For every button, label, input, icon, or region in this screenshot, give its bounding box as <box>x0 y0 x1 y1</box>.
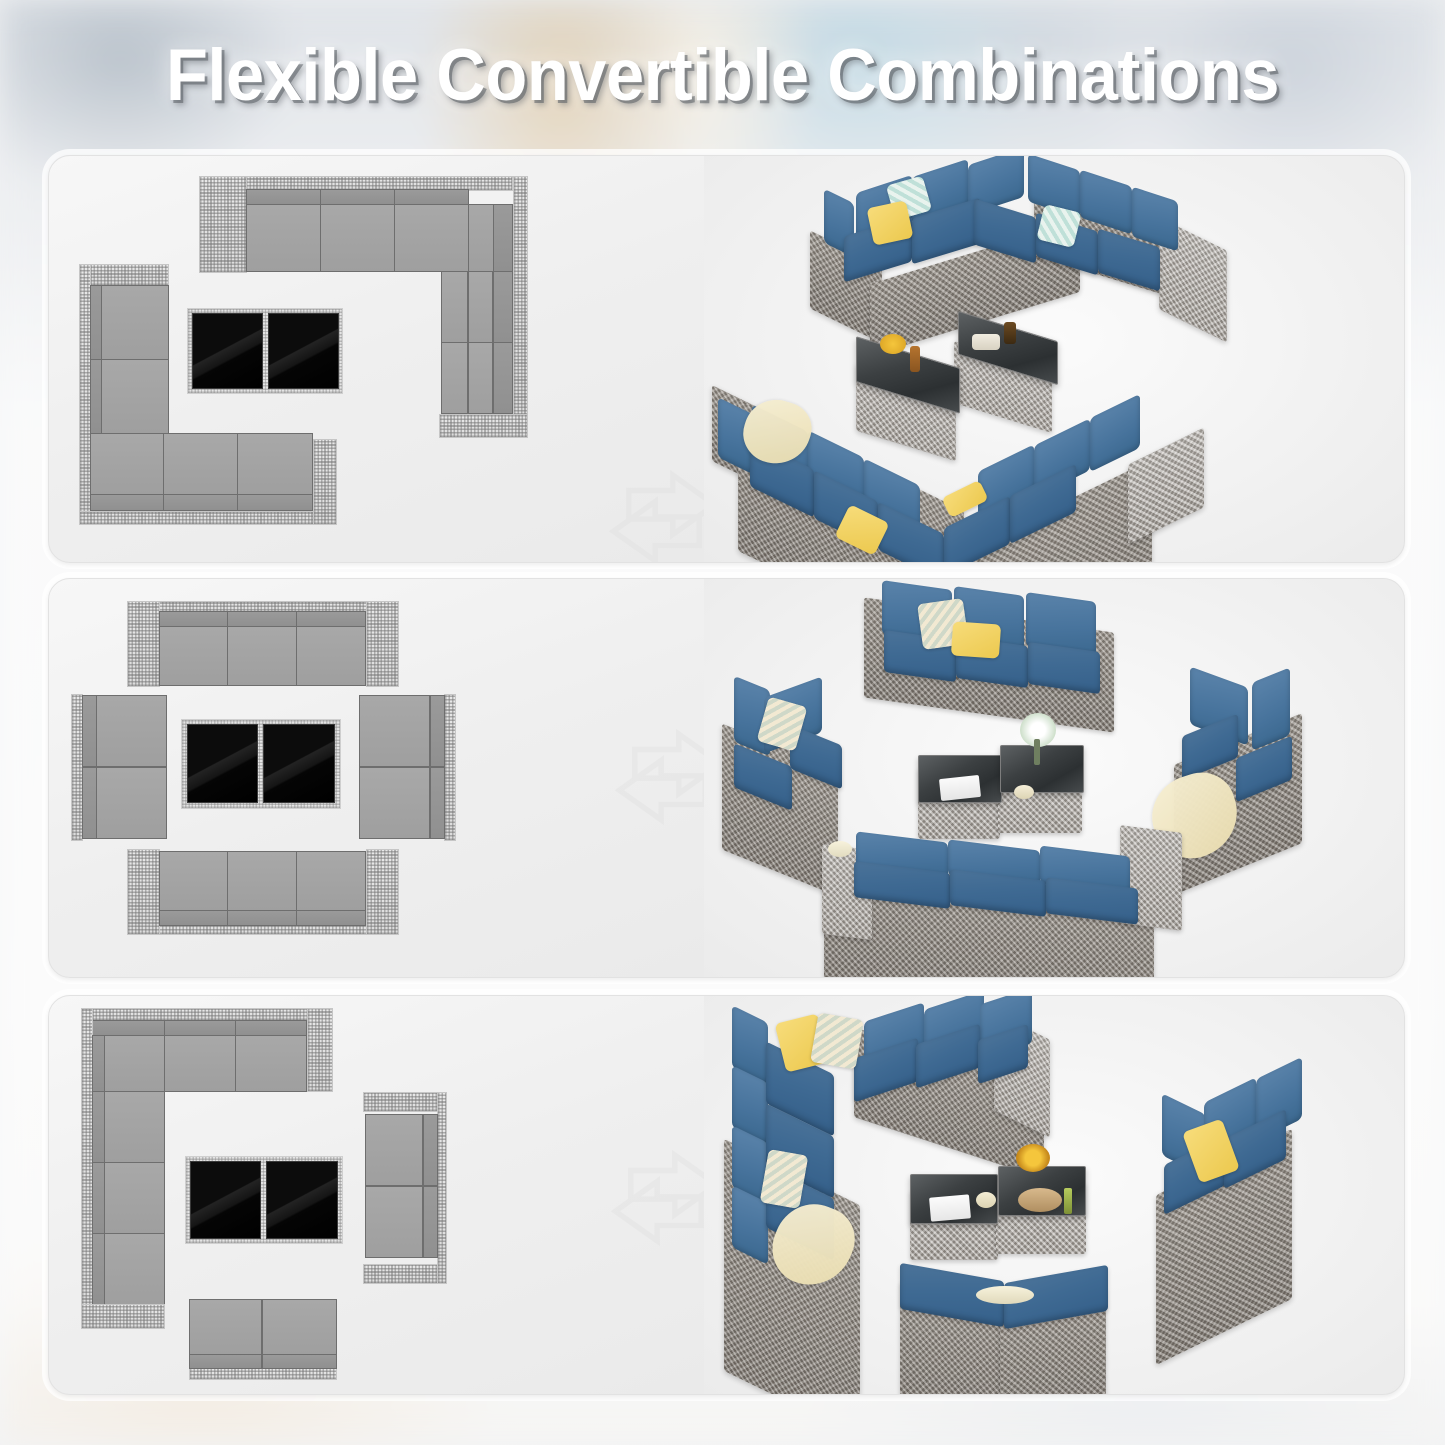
wicker-arm-left-top <box>79 264 169 286</box>
left-right-exchange-arrow-1 <box>609 468 719 563</box>
bottle-decor <box>1004 322 1016 344</box>
corner-seat-cushion <box>104 1035 165 1092</box>
open-book-decor <box>929 1194 971 1221</box>
corner-seat-cushion <box>90 433 164 495</box>
back-cushion <box>246 189 321 205</box>
sunflower-decor <box>880 334 906 354</box>
seat-cushion <box>104 1233 165 1305</box>
wicker-arm-top-right <box>307 1008 333 1092</box>
back-cushion <box>493 342 513 414</box>
product-photo-1 <box>704 156 1404 562</box>
bowl-decor <box>976 1192 996 1208</box>
back-cushion <box>237 494 313 511</box>
back-cushion <box>296 910 366 926</box>
seat-cushion <box>159 851 228 911</box>
back-cushion <box>320 189 395 205</box>
wicker-back-loveseat-top <box>363 1092 447 1112</box>
ottoman-cushion <box>189 1299 262 1355</box>
seat-cushion <box>159 626 228 686</box>
combination-panel-3 <box>48 995 1405 1395</box>
back-cushion <box>163 494 238 511</box>
glass-table-top <box>1000 745 1084 793</box>
seat-cushion <box>96 695 167 767</box>
seat-cushion <box>237 433 313 495</box>
wicker-arm-top-left <box>199 176 247 273</box>
back-cushion <box>92 1035 105 1092</box>
wicker-arm-bottom-left <box>81 1304 165 1329</box>
sunflower-decor <box>1016 1144 1050 1172</box>
back-cushion <box>90 494 164 511</box>
ottoman-edge-cushion <box>189 1354 262 1369</box>
glass-table-top <box>192 313 263 389</box>
seat-cushion <box>359 695 430 767</box>
corner-back-cushion <box>493 204 513 272</box>
wicker-arm-right-bottom <box>439 414 528 438</box>
back-cushion <box>82 695 97 767</box>
seat-cushion <box>96 767 167 839</box>
seat-cushion <box>104 1162 165 1234</box>
back-cushion <box>394 189 469 205</box>
seat-cushion <box>359 767 430 839</box>
seat-cushion <box>320 204 395 272</box>
wicker-arm-right <box>366 601 399 687</box>
product-photo-2 <box>704 579 1404 977</box>
glass-table-top <box>190 1161 261 1239</box>
wicker-arm-bottom-right <box>313 439 337 525</box>
back-cushion <box>423 1114 438 1186</box>
product-photo-3 <box>704 996 1404 1394</box>
back-cushion <box>493 271 513 343</box>
bottle-decor <box>1064 1188 1072 1214</box>
wicker-arm-left <box>127 601 160 687</box>
accent-pillow-pattern <box>810 1012 864 1069</box>
seat-cushion <box>227 851 297 911</box>
napkin-decor <box>976 1286 1034 1304</box>
combination-panel-2 <box>48 578 1405 978</box>
wicker-arm-loveseat-right <box>437 1092 447 1284</box>
wicker-back-right <box>444 694 456 841</box>
seat-cushion <box>394 204 469 272</box>
seat-cushion <box>163 433 238 495</box>
schematic-diagram-3 <box>49 996 689 1394</box>
bottle-decor <box>910 346 920 372</box>
glass-table-top <box>263 724 335 803</box>
back-cushion <box>423 1186 438 1258</box>
wicker-back-bottom <box>79 511 337 525</box>
schematic-diagram-2 <box>49 579 689 977</box>
back-cushion <box>296 611 366 627</box>
glass-table-top <box>266 1161 338 1239</box>
ottoman-edge-cushion <box>262 1354 337 1369</box>
back-cushion <box>164 1020 236 1036</box>
plate-decor <box>972 334 1000 350</box>
seat-cushion <box>104 1091 165 1163</box>
back-cushion <box>227 910 297 926</box>
open-book-decor <box>939 775 981 801</box>
back-cushion <box>430 695 445 767</box>
back-cushion <box>159 611 228 627</box>
seat-cushion <box>246 204 321 272</box>
seat-cushion <box>227 626 297 686</box>
seat-cushion <box>441 342 468 414</box>
seat-cushion <box>468 342 493 414</box>
seat-cushion <box>101 285 169 360</box>
back-cushion <box>235 1020 307 1036</box>
wicker-arm-right <box>366 849 399 935</box>
back-cushion <box>227 611 297 627</box>
glass-table-top <box>268 313 339 389</box>
accent-pillow-yellow <box>866 200 913 245</box>
back-cushion <box>82 767 97 839</box>
accent-pillow-yellow <box>951 621 1001 658</box>
candle-decor <box>828 841 852 857</box>
seat-cushion <box>101 359 169 434</box>
seat-cushion <box>441 271 468 343</box>
glass-table-top <box>187 724 258 803</box>
schematic-diagram-1 <box>49 156 689 562</box>
seat-cushion <box>468 271 493 343</box>
back-cushion <box>89 1020 165 1036</box>
seat-cushion <box>235 1035 307 1092</box>
page-title: Flexible Convertible Combinations <box>43 34 1401 117</box>
seat-cushion <box>296 626 366 686</box>
back-cushion <box>430 767 445 839</box>
seat-cushion <box>365 1186 423 1258</box>
seat-cushion <box>296 851 366 911</box>
seat-cushion <box>365 1114 423 1186</box>
wicker-arm-left <box>127 849 160 935</box>
back-cushion <box>159 910 228 926</box>
wicker-back-loveseat-bottom <box>363 1264 447 1284</box>
bowl-decor <box>1014 785 1034 799</box>
wicker-back-right <box>513 176 528 426</box>
wicker-ottoman-edge <box>189 1368 337 1380</box>
combination-panel-1 <box>48 155 1405 563</box>
vase-stem <box>1034 739 1040 765</box>
seat-cushion <box>164 1035 236 1092</box>
tray-decor <box>1018 1188 1062 1212</box>
ottoman-cushion <box>262 1299 337 1355</box>
